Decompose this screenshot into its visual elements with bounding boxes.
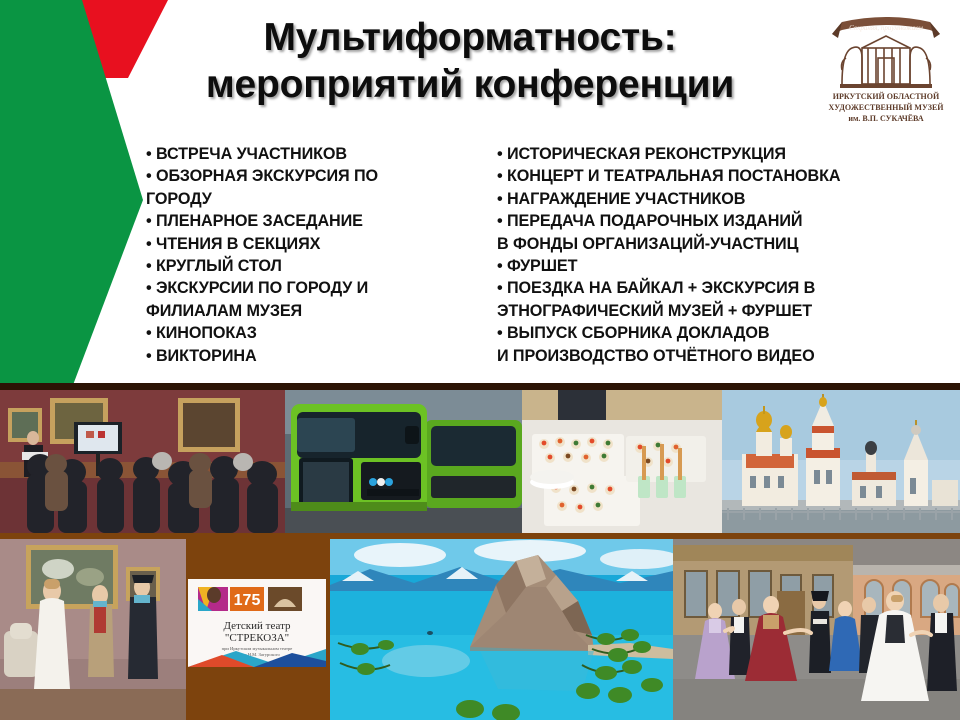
photo-irkutsk-churches bbox=[722, 390, 960, 533]
list-item: • КРУГЛЫЙ СТОЛ bbox=[146, 255, 476, 277]
list-item: • ВСТРЕЧА УЧАСТНИКОВ bbox=[146, 143, 476, 165]
presentation-slide: Мультиформатность: мероприятий конференц… bbox=[0, 0, 960, 720]
ribbon-banner-icon: Сохраняя, приумножаем bbox=[832, 17, 940, 38]
list-item: • ПЛЕНАРНОЕ ЗАСЕДАНИЕ bbox=[146, 210, 476, 232]
photo-row-bottom: 175 Детский театр "СТРЕКОЗА" при Иркутск… bbox=[0, 539, 960, 720]
strekoza-theatre-banner: 175 Детский театр "СТРЕКОЗА" при Иркутск… bbox=[188, 579, 326, 667]
photo-city-buses bbox=[285, 390, 522, 533]
bullet-list-left: • ВСТРЕЧА УЧАСТНИКОВ • ОБЗОРНАЯ ЭКСКУРСИ… bbox=[146, 143, 476, 367]
list-item: В ФОНДЫ ОРГАНИЗАЦИЙ-УЧАСТНИЦ bbox=[497, 233, 949, 255]
svg-text:175: 175 bbox=[234, 592, 261, 609]
photo-collage: 175 Детский театр "СТРЕКОЗА" при Иркутск… bbox=[0, 383, 960, 720]
list-item: • ЧТЕНИЯ В СЕКЦИЯХ bbox=[146, 233, 476, 255]
logo-name-line-1: ИРКУТСКИЙ ОБЛАСТНОЙ bbox=[833, 92, 940, 101]
bullet-list-right: • ИСТОРИЧЕСКАЯ РЕКОНСТРУКЦИЯ • КОНЦЕРТ И… bbox=[497, 143, 949, 367]
svg-text:при Иркутском музыкальном теат: при Иркутском музыкальном театре bbox=[222, 646, 293, 651]
list-item: • ВЫПУСК СБОРНИКА ДОКЛАДОВ bbox=[497, 322, 949, 344]
list-item: ЭТНОГРАФИЧЕСКИЙ МУЗЕЙ + ФУРШЕТ bbox=[497, 300, 949, 322]
logo-name-line-3: им. В.П. СУКАЧЁВА bbox=[848, 114, 924, 123]
photo-historic-ball bbox=[673, 539, 960, 720]
list-item: • КИНОПОКАЗ bbox=[146, 322, 476, 344]
list-item: И ПРОИЗВОДСТВО ОТЧЁТНОГО ВИДЕО bbox=[497, 345, 949, 367]
list-item: • ПЕРЕДАЧА ПОДАРОЧНЫХ ИЗДАНИЙ bbox=[497, 210, 949, 232]
photo-costume-reenactment: 175 Детский театр "СТРЕКОЗА" при Иркутск… bbox=[0, 539, 330, 720]
list-item: • КОНЦЕРТ И ТЕАТРАЛЬНАЯ ПОСТАНОВКА bbox=[497, 165, 949, 187]
photo-row-top bbox=[0, 390, 960, 533]
list-item: ГОРОДУ bbox=[146, 188, 476, 210]
slide-title: Мультиформатность: мероприятий конференц… bbox=[120, 14, 820, 108]
list-item: • НАГРАЖДЕНИЕ УЧАСТНИКОВ bbox=[497, 188, 949, 210]
list-item: • ФУРШЕТ bbox=[497, 255, 949, 277]
list-item: • ЭКСКУРСИИ ПО ГОРОДУ И bbox=[146, 277, 476, 299]
museum-logo: Сохраняя, приумножаем ИРКУТСКИЙ ОБЛАСТНО… bbox=[822, 8, 950, 130]
svg-text:"СТРЕКОЗА": "СТРЕКОЗА" bbox=[225, 632, 289, 644]
list-item: • ПОЕЗДКА НА БАЙКАЛ + ЭКСКУРСИЯ В bbox=[497, 277, 949, 299]
svg-text:Сохраняя, приумножаем: Сохраняя, приумножаем bbox=[849, 24, 923, 32]
list-item: • ОБЗОРНАЯ ЭКСКУРСИЯ ПО bbox=[146, 165, 476, 187]
title-line-1: Мультиформатность: bbox=[120, 14, 820, 61]
photo-conference-hall bbox=[0, 390, 285, 533]
photo-buffet-canapes bbox=[522, 390, 722, 533]
museum-building-icon bbox=[840, 36, 932, 88]
title-line-2: мероприятий конференции bbox=[120, 61, 820, 108]
svg-text:Детский театр: Детский театр bbox=[223, 620, 291, 632]
list-item: • ИСТОРИЧЕСКАЯ РЕКОНСТРУКЦИЯ bbox=[497, 143, 949, 165]
photo-lake-baikal bbox=[330, 539, 673, 720]
logo-name-line-2: ХУДОЖЕСТВЕННЫЙ МУЗЕЙ bbox=[828, 103, 944, 112]
list-item: • ВИКТОРИНА bbox=[146, 345, 476, 367]
list-item: ФИЛИАЛАМ МУЗЕЯ bbox=[146, 300, 476, 322]
